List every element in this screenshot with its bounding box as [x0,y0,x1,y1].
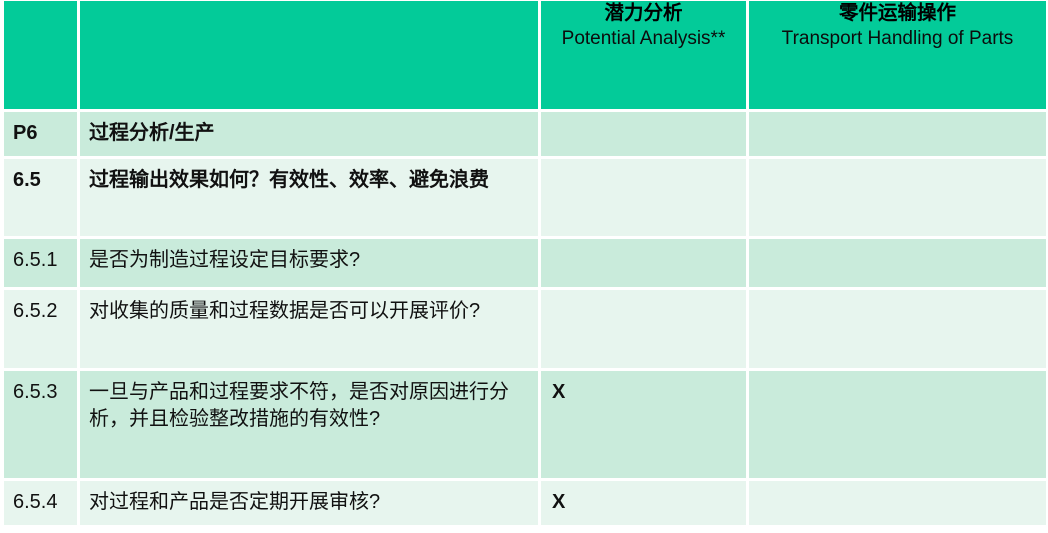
row-question-cell: 是否为制造过程设定目标要求? [80,239,541,290]
row-question-label: 一旦与产品和过程要求不符，是否对原因进行分析，并且检验整改措施的有效性? [80,371,538,441]
row-id-label: P6 [4,112,77,155]
row-transport-mark [749,239,1046,256]
row-potential-mark [541,239,746,256]
row-question-label: 对收集的质量和过程数据是否可以开展评价? [80,290,538,334]
row-id-label: 6.5.1 [4,239,77,282]
row-potential-cell[interactable]: X [541,371,749,481]
row-id-label: 6.5 [4,159,77,202]
row-transport-cell[interactable] [749,290,1046,371]
table-row: P6 过程分析/生产 [4,112,1046,159]
row-potential-mark [541,290,746,307]
row-id-cell: 6.5.3 [4,371,80,481]
row-transport-cell[interactable] [749,112,1046,159]
header-cell-id [4,1,80,112]
row-transport-cell[interactable] [749,239,1046,290]
header-cell-question [80,1,541,112]
row-potential-cell[interactable] [541,112,749,159]
table-row: 6.5.4 对过程和产品是否定期开展审核? X [4,481,1046,528]
row-id-cell: P6 [4,112,80,159]
row-potential-cell[interactable]: X [541,481,749,528]
table-row: 6.5 过程输出效果如何？有效性、效率、避免浪费 [4,159,1046,239]
row-question-label: 是否为制造过程设定目标要求? [80,239,538,283]
row-transport-cell[interactable] [749,371,1046,481]
row-question-label: 过程输出效果如何？有效性、效率、避免浪费 [80,159,538,203]
header-cell-potential-analysis: 潜力分析 Potential Analysis** [541,1,749,112]
table-body: P6 过程分析/生产 6.5 过程输出效果如何？有效性、效率、避免浪费 [4,112,1046,528]
row-potential-cell[interactable] [541,159,749,239]
row-transport-mark [749,159,1046,176]
row-potential-cell[interactable] [541,239,749,290]
header-potential-en: Potential Analysis** [541,26,746,51]
table-row: 6.5.1 是否为制造过程设定目标要求? [4,239,1046,290]
row-transport-cell[interactable] [749,481,1046,528]
row-id-cell: 6.5 [4,159,80,239]
row-question-cell: 过程输出效果如何？有效性、效率、避免浪费 [80,159,541,239]
header-transport-en: Transport Handling of Parts [749,26,1046,51]
header-cell-transport-handling: 零件运输操作 Transport Handling of Parts [749,1,1046,112]
row-question-label: 对过程和产品是否定期开展审核? [80,481,538,525]
row-transport-mark [749,481,1046,498]
row-question-label: 过程分析/生产 [80,112,538,156]
row-id-label: 6.5.3 [4,371,77,414]
row-id-cell: 6.5.1 [4,239,80,290]
header-potential-cn: 潜力分析 [541,1,746,26]
row-transport-cell[interactable] [749,159,1046,239]
table-header: 潜力分析 Potential Analysis** 零件运输操作 Transpo… [4,1,1046,112]
row-potential-mark: X [541,481,746,524]
process-audit-matrix-table: 潜力分析 Potential Analysis** 零件运输操作 Transpo… [4,1,1046,528]
header-transport-cn: 零件运输操作 [749,1,1046,26]
row-potential-mark: X [541,371,746,414]
audit-matrix-sheet: 潜力分析 Potential Analysis** 零件运输操作 Transpo… [0,0,1048,533]
row-question-cell: 对收集的质量和过程数据是否可以开展评价? [80,290,541,371]
table-row: 6.5.2 对收集的质量和过程数据是否可以开展评价? [4,290,1046,371]
row-id-label: 6.5.2 [4,290,77,333]
row-id-label: 6.5.4 [4,481,77,524]
row-question-cell: 一旦与产品和过程要求不符，是否对原因进行分析，并且检验整改措施的有效性? [80,371,541,481]
row-potential-mark [541,159,746,176]
row-transport-mark [749,112,1046,129]
row-potential-mark [541,112,746,129]
row-transport-mark [749,371,1046,388]
row-question-cell: 对过程和产品是否定期开展审核? [80,481,541,528]
row-question-cell: 过程分析/生产 [80,112,541,159]
row-id-cell: 6.5.4 [4,481,80,528]
row-potential-cell[interactable] [541,290,749,371]
row-id-cell: 6.5.2 [4,290,80,371]
row-transport-mark [749,290,1046,307]
header-row: 潜力分析 Potential Analysis** 零件运输操作 Transpo… [4,1,1046,112]
table-row: 6.5.3 一旦与产品和过程要求不符，是否对原因进行分析，并且检验整改措施的有效… [4,371,1046,481]
